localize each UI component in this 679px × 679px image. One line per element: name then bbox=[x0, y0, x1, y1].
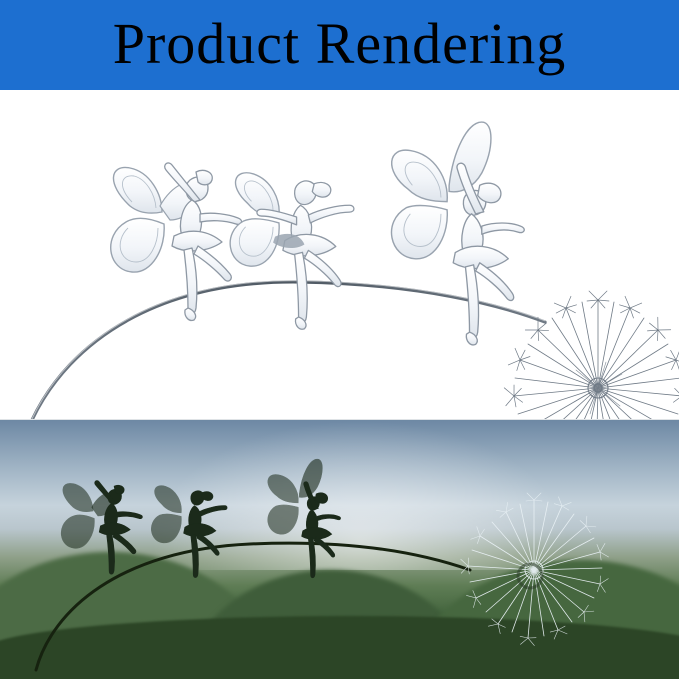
fairy-left bbox=[111, 163, 242, 321]
fairy-right bbox=[391, 122, 524, 345]
fairy-left bbox=[61, 481, 142, 575]
lifestyle-artwork bbox=[0, 420, 679, 679]
product-render-artwork bbox=[0, 90, 679, 420]
page-title: Product Rendering bbox=[113, 15, 567, 73]
dandelion-head bbox=[461, 493, 609, 646]
arched-rod bbox=[36, 543, 470, 670]
dandelion-head bbox=[504, 291, 679, 420]
fairy-right bbox=[268, 459, 341, 578]
product-render-panel bbox=[0, 90, 679, 420]
product-image: Product Rendering bbox=[0, 0, 679, 679]
header-banner: Product Rendering bbox=[0, 0, 679, 90]
lifestyle-photo-panel bbox=[0, 420, 679, 679]
fairy-middle bbox=[151, 486, 227, 578]
fairy-middle bbox=[230, 173, 354, 329]
